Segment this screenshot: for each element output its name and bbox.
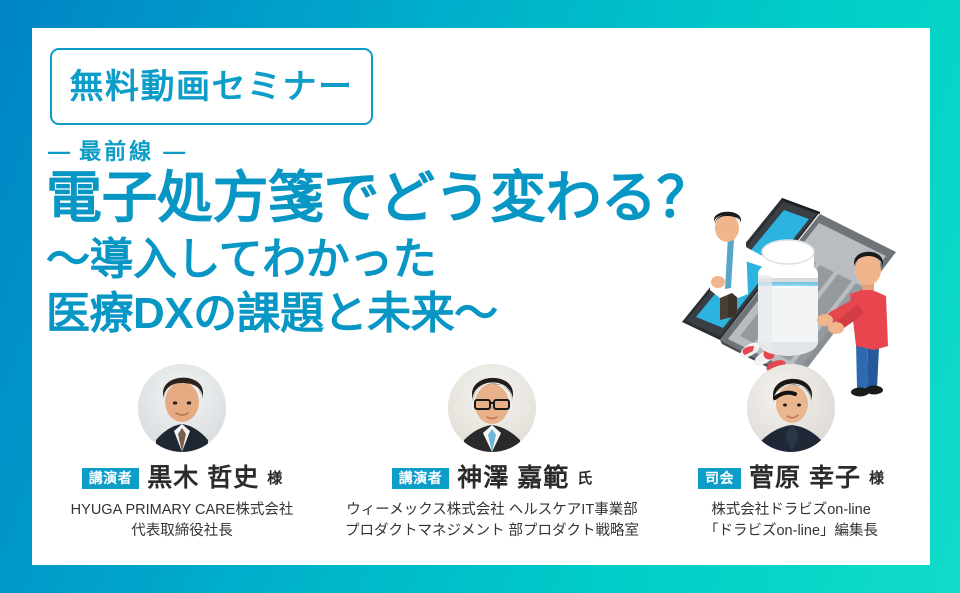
speaker-honorific: 氏 (577, 471, 592, 486)
speaker-org-line: 「ドラビズon-line」編集長 (704, 521, 878, 542)
speaker-org-line: 代表取締役社長 (71, 521, 294, 542)
speaker-name-line: 講演者 黒木 哲史 様 (82, 466, 282, 491)
speaker-org-line: HYUGA PRIMARY CARE株式会社 (71, 500, 294, 521)
speaker-org-line: 株式会社ドラビズon-line (704, 500, 878, 521)
speaker-name-line: 講演者 神澤 嘉範 氏 (392, 466, 592, 491)
speaker-org-line: プロダクトマネジメント 部プロダクト戦略室 (345, 521, 639, 542)
speaker-card: 講演者 黒木 哲史 様 HYUGA PRIMARY CARE株式会社 代表取締役… (32, 364, 332, 542)
speaker-honorific: 様 (267, 471, 282, 486)
avatar-kanzawa (448, 364, 536, 452)
free-seminar-badge-label: 無料動画セミナー (70, 70, 354, 104)
role-badge: 講演者 (82, 468, 140, 489)
speaker-card: 司会 菅原 幸子 様 株式会社ドラビズon-line 「ドラビズon-line」… (652, 364, 930, 542)
speaker-card: 講演者 神澤 嘉範 氏 ウィーメックス株式会社 ヘルスケアIT事業部 プロダクト… (332, 364, 652, 542)
free-seminar-badge: 無料動画セミナー (50, 48, 373, 125)
eyebrow-dash-left: — (48, 139, 70, 164)
role-badge: 講演者 (392, 468, 450, 489)
speaker-name: 神澤 嘉範 (457, 466, 569, 491)
eyebrow-dash-right: — (163, 139, 185, 164)
speakers-row: 講演者 黒木 哲史 様 HYUGA PRIMARY CARE株式会社 代表取締役… (32, 364, 930, 564)
speaker-organization: ウィーメックス株式会社 ヘルスケアIT事業部 プロダクトマネジメント 部プロダク… (345, 500, 639, 542)
avatar-sugawara (747, 364, 835, 452)
speaker-organization: HYUGA PRIMARY CARE株式会社 代表取締役社長 (71, 500, 294, 542)
eyebrow-text: 最前線 (79, 139, 154, 164)
avatar-kuroki (138, 364, 226, 452)
speaker-name-line: 司会 菅原 幸子 様 (698, 466, 884, 491)
role-badge: 司会 (698, 468, 741, 489)
speaker-name: 黒木 哲史 (147, 466, 259, 491)
webinar-promo-banner: 無料動画セミナー — 最前線 — 電子処方箋でどう変わる？ 〜導入してわかった … (0, 0, 960, 593)
speaker-honorific: 様 (869, 471, 884, 486)
speaker-organization: 株式会社ドラビズon-line 「ドラビズon-line」編集長 (704, 500, 878, 542)
speaker-org-line: ウィーメックス株式会社 ヘルスケアIT事業部 (345, 500, 639, 521)
speaker-name: 菅原 幸子 (749, 466, 861, 491)
eyebrow-label: — 最前線 — (48, 141, 185, 163)
white-content-card: 無料動画セミナー — 最前線 — 電子処方箋でどう変わる？ 〜導入してわかった … (32, 28, 930, 565)
